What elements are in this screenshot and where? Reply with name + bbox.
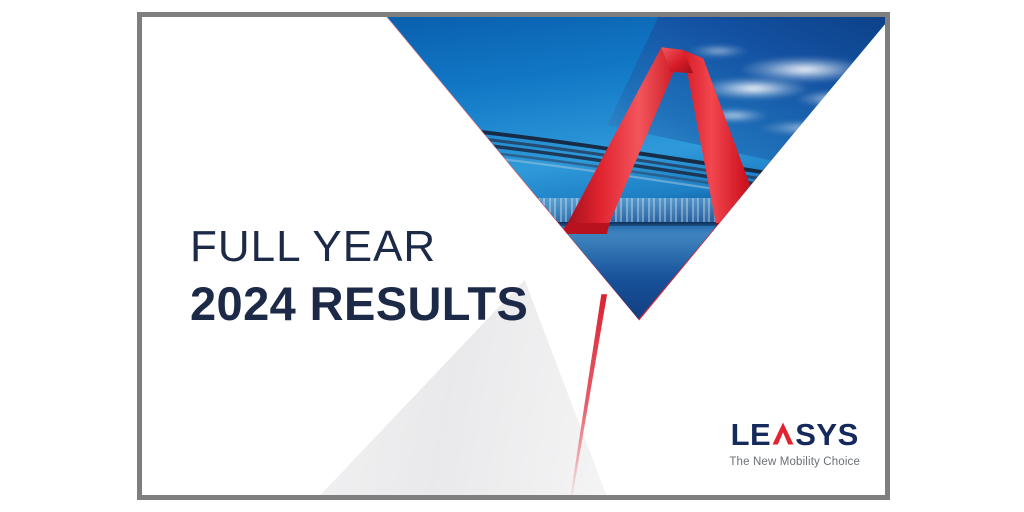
slide-canvas: FULL YEAR 2024 RESULTS LE SYS The New Mo… <box>0 0 1024 512</box>
headline-line-1: FULL YEAR <box>190 224 528 270</box>
hero-red-accent-tail <box>569 294 658 495</box>
page-title: FULL YEAR 2024 RESULTS <box>190 224 528 329</box>
slide-frame: FULL YEAR 2024 RESULTS LE SYS The New Mo… <box>137 12 890 500</box>
headline-line-2: 2024 RESULTS <box>190 280 528 329</box>
slide-content: FULL YEAR 2024 RESULTS LE SYS The New Mo… <box>142 17 885 495</box>
logo-text-le: LE <box>731 419 772 450</box>
logo-text-sys: SYS <box>795 419 859 450</box>
leasys-logo: LE SYS The New Mobility Choice <box>729 419 860 468</box>
logo-wordmark: LE SYS <box>729 419 860 450</box>
logo-a-icon <box>772 422 794 445</box>
logo-tagline: The New Mobility Choice <box>729 456 860 468</box>
